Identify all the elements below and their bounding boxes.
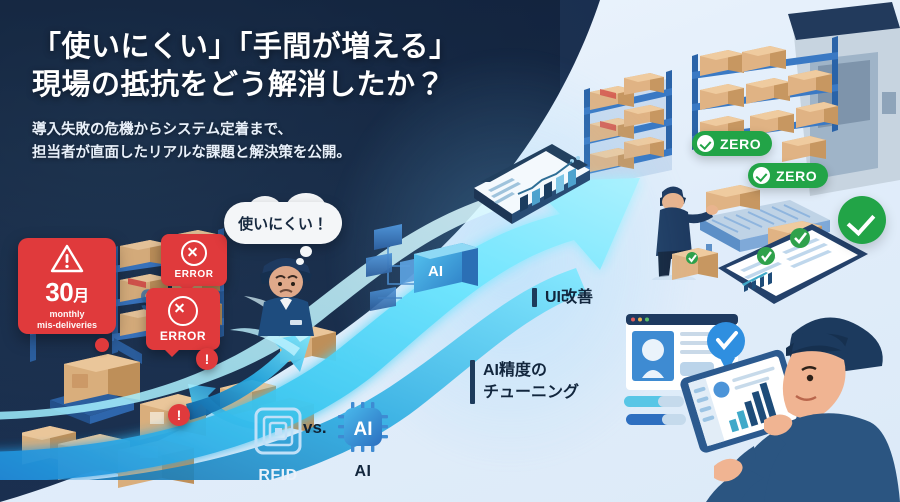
alert-badge: 30月 monthly mis-deliveries <box>18 238 116 334</box>
thought-puff <box>300 246 312 257</box>
label-ai-tuning: AI精度の チューニング <box>470 360 579 404</box>
check-circle-icon <box>697 135 714 152</box>
thought-bubble: 使いにくい！ <box>224 202 342 244</box>
worried-worker <box>240 248 332 336</box>
subheadline-line-1: 導入失敗の危機からシステム定着まで、 <box>32 119 462 142</box>
warning-triangle-icon <box>50 244 84 273</box>
thought-bubble-text: 使いにくい！ <box>238 213 328 234</box>
comparison-ai: AI AI <box>336 400 390 481</box>
error-badge: ERROR <box>146 288 220 350</box>
ai-chip-icon: AI <box>336 400 390 454</box>
circle-x-icon <box>168 296 198 326</box>
headline-line-2: 現場の抵抗をどう解消したか？ <box>32 66 462 104</box>
subheadline-line-2: 担当者が直面したリアルな課題と解決策を公開。 <box>32 142 462 165</box>
success-check-icon <box>838 196 886 244</box>
zero-badge: ZERO <box>692 131 772 156</box>
hero-banner: 9 <box>0 0 900 502</box>
label-accent-bar <box>532 288 537 307</box>
circle-x-icon <box>181 240 207 266</box>
subheadline: 導入失敗の危機からシステム定着まで、 担当者が直面したリアルな課題と解決策を公開… <box>32 119 462 166</box>
exclamation-marker: ! <box>196 348 218 370</box>
worker-using-tablet <box>596 300 900 502</box>
red-dot-marker <box>95 338 109 352</box>
ai-flow-diagram: AI <box>366 210 506 340</box>
exclamation-marker: ! <box>168 404 190 426</box>
thought-puff <box>296 258 304 265</box>
check-circle-icon <box>753 167 770 184</box>
alert-caption: monthly mis-deliveries <box>18 309 116 332</box>
comparison-rfid: RFID <box>252 405 304 485</box>
label-accent-bar <box>470 360 475 404</box>
svg-text:AI: AI <box>354 419 373 440</box>
headline-line-1: 「使いにくい」「手間が増える」 <box>32 28 462 66</box>
alert-value: 30月 <box>18 279 116 305</box>
svg-text:AI: AI <box>428 263 443 280</box>
comparison-separator: vs. <box>303 418 327 438</box>
comparison-rfid-label: RFID <box>252 467 304 485</box>
error-badge: ERROR <box>161 234 227 286</box>
zero-badge: ZERO <box>748 163 828 188</box>
rfid-tag-icon <box>252 405 304 457</box>
label-ai-tuning-text: AI精度の チューニング <box>483 360 579 404</box>
label-ui-improvement: UI改善 <box>532 288 593 307</box>
headline-block: 「使いにくい」「手間が増える」 現場の抵抗をどう解消したか？ 導入失敗の危機から… <box>32 28 462 166</box>
comparison-ai-label: AI <box>336 463 390 481</box>
